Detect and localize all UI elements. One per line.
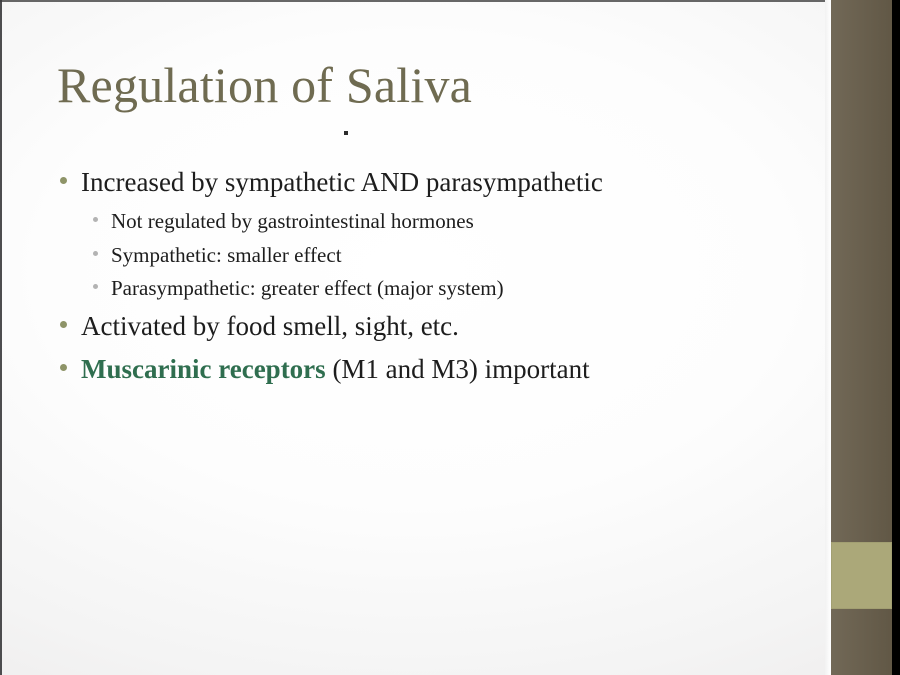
bullet-text-remainder: (M1 and M3) important: [326, 354, 590, 384]
bullet-text: Parasympathetic: greater effect (major s…: [111, 272, 504, 305]
slide-left-border: [0, 0, 2, 675]
bullet-text-rich: Muscarinic receptors (M1 and M3) importa…: [81, 349, 590, 390]
title-underdot: [344, 131, 348, 135]
bullet-item-1: Increased by sympathetic AND parasympath…: [60, 162, 800, 203]
slide-top-border: [0, 0, 900, 2]
bullet-dot-icon: [60, 364, 67, 371]
bullet-item-2: Not regulated by gastrointestinal hormon…: [93, 205, 800, 238]
bullet-dot-icon: [93, 284, 98, 289]
bullet-dot-icon: [60, 321, 67, 328]
sidebar-khaki-block: [831, 542, 892, 609]
bullet-item-3: Sympathetic: smaller effect: [93, 239, 800, 272]
slide-title: Regulation of Saliva: [57, 57, 472, 113]
bullet-highlight-term: Muscarinic receptors: [81, 354, 326, 384]
bullet-item-4: Parasympathetic: greater effect (major s…: [93, 272, 800, 305]
bullet-dot-icon: [93, 217, 98, 222]
bullet-text: Sympathetic: smaller effect: [111, 239, 342, 272]
presentation-slide: Regulation of Saliva Increased by sympat…: [0, 0, 900, 675]
slide-right-border: [892, 0, 900, 675]
bullet-list: Increased by sympathetic AND parasympath…: [60, 162, 800, 392]
bullet-item-6: Muscarinic receptors (M1 and M3) importa…: [60, 349, 800, 390]
bullet-text: Increased by sympathetic AND parasympath…: [81, 162, 603, 203]
bullet-item-5: Activated by food smell, sight, etc.: [60, 306, 800, 347]
bullet-dot-icon: [93, 251, 98, 256]
bullet-dot-icon: [60, 177, 67, 184]
bullet-text: Not regulated by gastrointestinal hormon…: [111, 205, 474, 238]
bullet-text: Activated by food smell, sight, etc.: [81, 306, 459, 347]
